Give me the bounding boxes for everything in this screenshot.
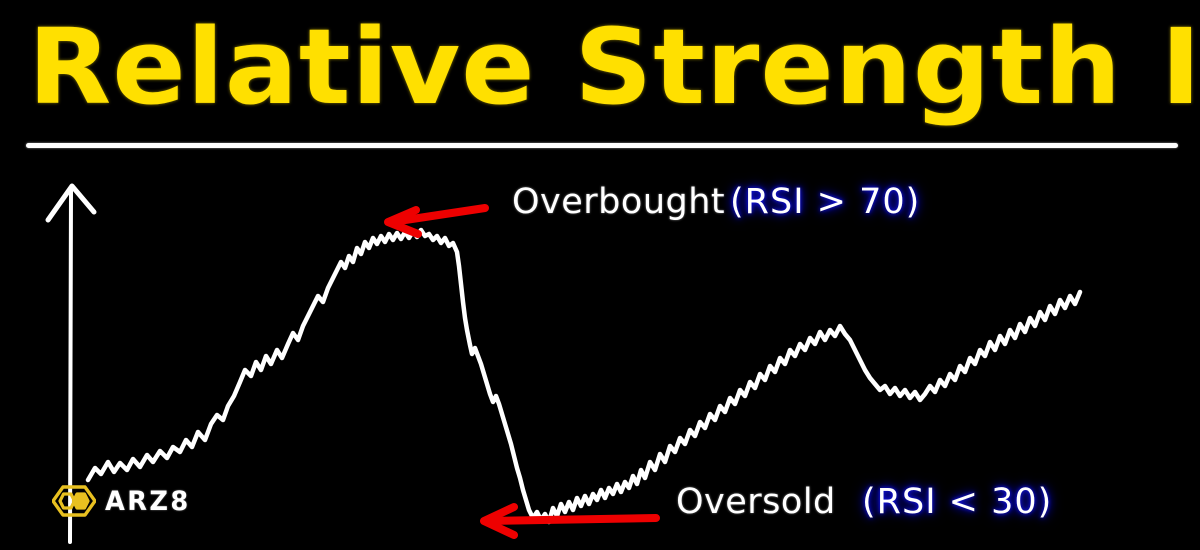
brand-name: ARZ8 [105,486,191,517]
overbought-label: Overbought [512,182,725,222]
brand-logo: ARZ8 [52,482,195,520]
rsi-line-series [88,230,1080,522]
overbought-pointer-arrow-icon [388,208,485,234]
hexagon-link-logo-icon [52,485,96,517]
rsi-infographic: Relative Strength Index Overboug [0,0,1200,550]
overbought-condition: (RSI > 70) [730,182,920,222]
page-title: Relative Strength Index [28,8,1200,126]
oversold-condition: (RSI < 30) [862,482,1052,522]
oversold-label: Oversold [676,482,836,522]
title-divider [26,143,1178,148]
oversold-pointer-arrow-icon [484,507,656,535]
